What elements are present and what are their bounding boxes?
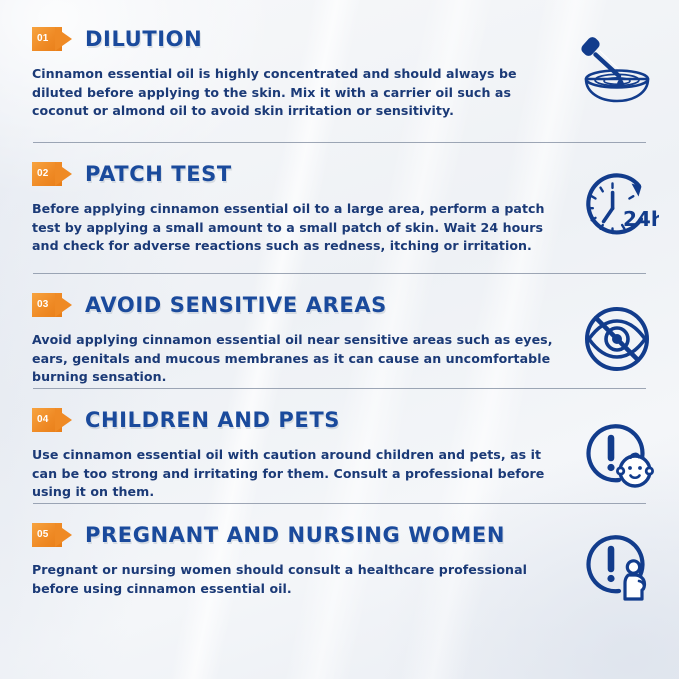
section-title: PREGNANT AND NURSING WOMEN (85, 523, 505, 547)
badge-arrow-icon (55, 27, 72, 51)
step-badge: 03 (32, 293, 76, 317)
no-eye-icon (571, 296, 663, 382)
step-number: 03 (32, 293, 49, 317)
badge-arrow-icon (55, 162, 72, 186)
section-body: Avoid applying cinnamon essential oil ne… (32, 331, 560, 387)
warning-pregnant-icon (571, 522, 663, 608)
badge-arrow-icon (55, 293, 72, 317)
section-body: Before applying cinnamon essential oil t… (32, 200, 560, 256)
step-badge: 01 (32, 27, 76, 51)
section-header: 02 PATCH TEST (32, 157, 645, 191)
step-number: 01 (32, 27, 49, 51)
section-header: 01 DILUTION (32, 22, 645, 56)
section-body: Use cinnamon essential oil with caution … (32, 446, 560, 502)
step-number: 02 (32, 162, 49, 186)
section-body: Cinnamon essential oil is highly concent… (32, 65, 560, 121)
infographic-page: 01 DILUTION Cinnamon essential oil is hi… (0, 0, 679, 679)
section-body: Pregnant or nursing women should consult… (32, 561, 560, 598)
step-badge: 05 (32, 523, 76, 547)
step-badge: 04 (32, 408, 76, 432)
section-avoid-sensitive-areas: 03 AVOID SENSITIVE AREAS Avoid applying … (0, 274, 679, 386)
warning-baby-icon (571, 411, 663, 497)
step-badge: 02 (32, 162, 76, 186)
clock-hours-label: 24h (623, 207, 659, 231)
section-title: CHILDREN AND PETS (85, 408, 340, 432)
section-children-and-pets: 04 CHILDREN AND PETS Use cinnamon essent… (0, 389, 679, 501)
dropper-bowl-icon (571, 26, 663, 112)
section-header: 04 CHILDREN AND PETS (32, 403, 645, 437)
section-header: 05 PREGNANT AND NURSING WOMEN (32, 518, 645, 552)
section-header: 03 AVOID SENSITIVE AREAS (32, 288, 645, 322)
section-patch-test: 02 PATCH TEST Before applying cinnamon e… (0, 143, 679, 271)
section-title: DILUTION (85, 27, 202, 51)
step-number: 04 (32, 408, 49, 432)
section-pregnant-and-nursing-women: 05 PREGNANT AND NURSING WOMEN Pregnant o… (0, 504, 679, 604)
section-title: AVOID SENSITIVE AREAS (85, 293, 387, 317)
step-number: 05 (32, 523, 49, 547)
section-dilution: 01 DILUTION Cinnamon essential oil is hi… (0, 22, 679, 140)
badge-arrow-icon (55, 523, 72, 547)
section-title: PATCH TEST (85, 162, 232, 186)
safety-tips-list: 01 DILUTION Cinnamon essential oil is hi… (0, 0, 679, 604)
clock-24h-icon: 24h (571, 165, 663, 251)
badge-arrow-icon (55, 408, 72, 432)
